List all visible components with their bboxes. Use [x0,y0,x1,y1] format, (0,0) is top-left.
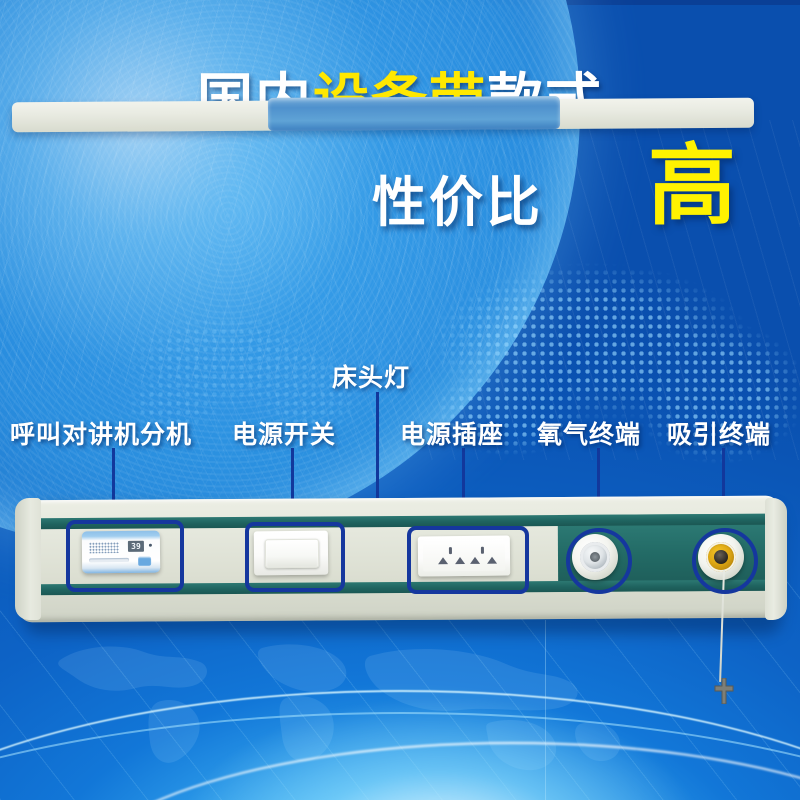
panel-end-cap-left [15,498,41,620]
promo-image: 国内设备带款式 性价比 高 呼叫对讲机分机 电源开关 床头灯 电源插座 氧气终端… [0,0,800,800]
panel-light-diffuser [268,96,560,131]
highlight-circle-suction [692,528,758,594]
callout-label-power-switch: 电源开关 [232,415,336,451]
highlight-circle-oxygen [566,528,632,594]
headline-line-2: 性价比 [372,158,543,237]
panel-end-cap-right [765,498,787,620]
pull-cord-handle[interactable] [713,678,735,704]
callout-label-oxygen-terminal: 氧气终端 [537,415,641,451]
highlight-box-intercom [66,520,184,592]
callout-label-bed-lamp: 床头灯 [332,358,410,394]
vertical-grid-line [545,620,546,800]
callout-label-power-socket: 电源插座 [400,415,504,451]
highlight-box-power-switch [245,522,345,592]
callout-label-suction-terminal: 吸引终端 [667,415,771,451]
headline-emphasis: 高 [648,142,736,230]
highlight-box-power-socket [407,526,529,594]
callout-label-intercom: 呼叫对讲机分机 [10,415,192,451]
